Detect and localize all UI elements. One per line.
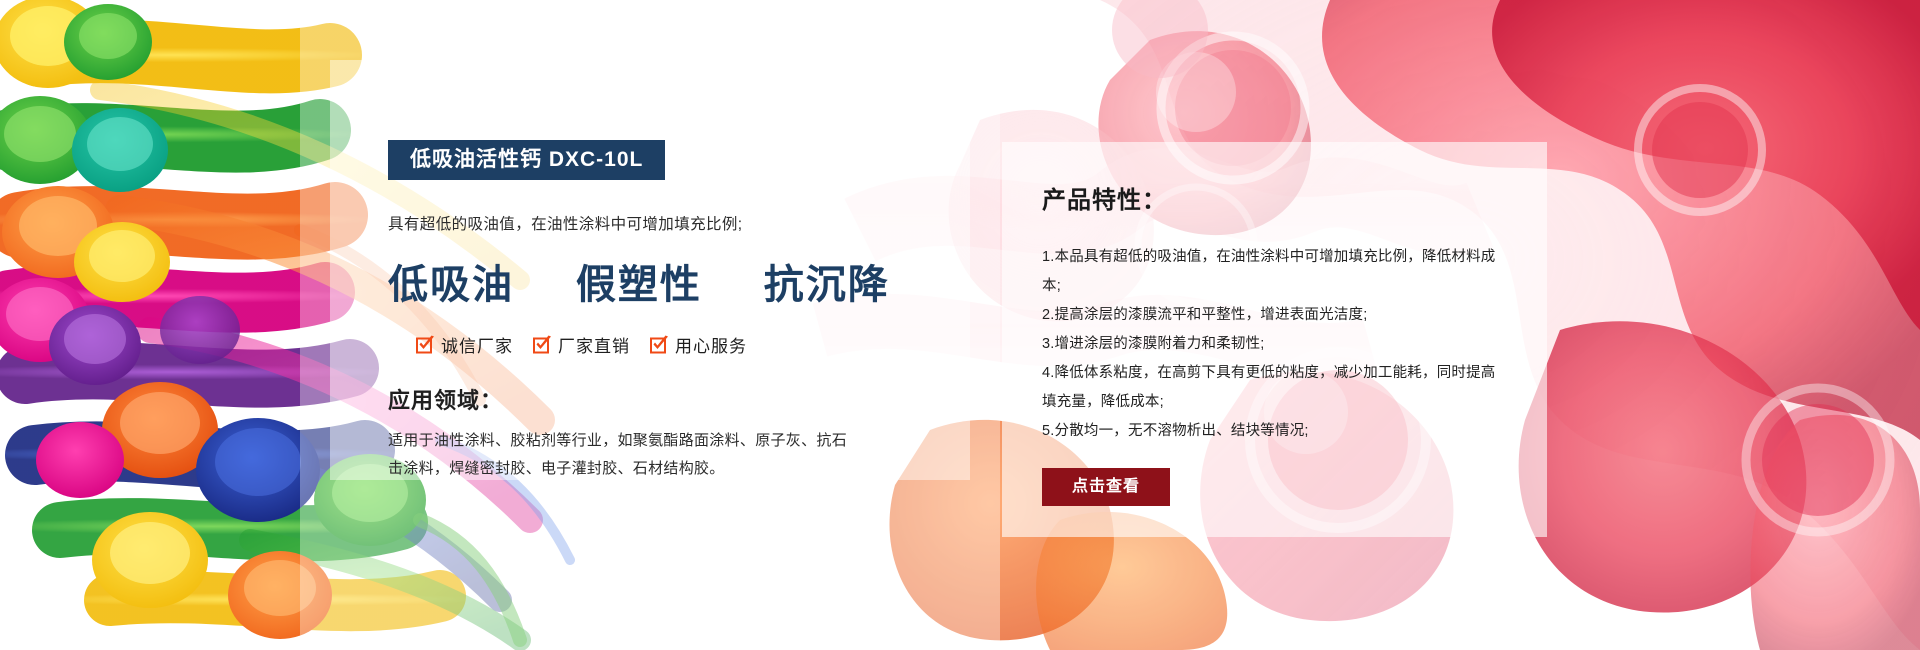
panel-feature-list: 1.本品具有超低的吸油值，在油性涂料中可增加填充比例，降低材料成本; 2.提高涂… <box>1042 243 1507 446</box>
trust-badge-item: 厂家直销 <box>533 332 630 357</box>
panel-feature-item: 4.降低体系粘度，在高剪下具有更低的粘度，减少加工能耗，同时提高填充量，降低成本… <box>1042 359 1507 417</box>
panel-feature-item: 3.增进涂层的漆膜附着力和柔韧性; <box>1042 330 1507 359</box>
panel-feature-item: 2.提高涂层的漆膜流平和平整性，增进表面光洁度; <box>1042 301 1507 330</box>
checkbox-checked-icon <box>416 335 435 354</box>
view-details-button[interactable]: 点击查看 <box>1042 468 1170 506</box>
headline-word-3: 抗沉降 <box>764 252 890 310</box>
panel-feature-item: 5.分散均一，无不溶物析出、结块等情况; <box>1042 417 1507 446</box>
product-subtitle: 具有超低的吸油值，在油性涂料中可增加填充比例; <box>388 212 908 234</box>
trust-badge-item: 用心服务 <box>650 332 747 357</box>
checkbox-checked-icon <box>650 335 669 354</box>
trust-badge-label: 诚信厂家 <box>441 332 513 357</box>
application-body: 适用于油性涂料、胶粘剂等行业，如聚氨酯路面涂料、原子灰、抗石击涂料，焊缝密封胶、… <box>388 427 858 483</box>
trust-badges-row: 诚信厂家 厂家直销 用心服务 <box>388 332 908 357</box>
background-artwork <box>0 0 1920 650</box>
trust-badge-label: 用心服务 <box>675 332 747 357</box>
product-features-panel: 产品特性： 1.本品具有超低的吸油值，在油性涂料中可增加填充比例，降低材料成本;… <box>1002 142 1547 537</box>
trust-badge-label: 厂家直销 <box>558 332 630 357</box>
checkbox-checked-icon <box>533 335 552 354</box>
banner-stage: 低吸油活性钙 DXC-10L 具有超低的吸油值，在油性涂料中可增加填充比例; 低… <box>0 0 1920 650</box>
product-title-badge: 低吸油活性钙 DXC-10L <box>388 140 665 180</box>
trust-badge-item: 诚信厂家 <box>416 332 513 357</box>
left-content-block: 低吸油活性钙 DXC-10L 具有超低的吸油值，在油性涂料中可增加填充比例; 低… <box>388 140 908 483</box>
headline-features: 低吸油 假塑性 抗沉降 <box>388 252 908 310</box>
headline-word-2: 假塑性 <box>576 252 702 310</box>
application-heading: 应用领域： <box>388 383 908 415</box>
panel-title: 产品特性： <box>1042 180 1507 215</box>
panel-feature-item: 1.本品具有超低的吸油值，在油性涂料中可增加填充比例，降低材料成本; <box>1042 243 1507 301</box>
headline-word-1: 低吸油 <box>388 252 514 310</box>
